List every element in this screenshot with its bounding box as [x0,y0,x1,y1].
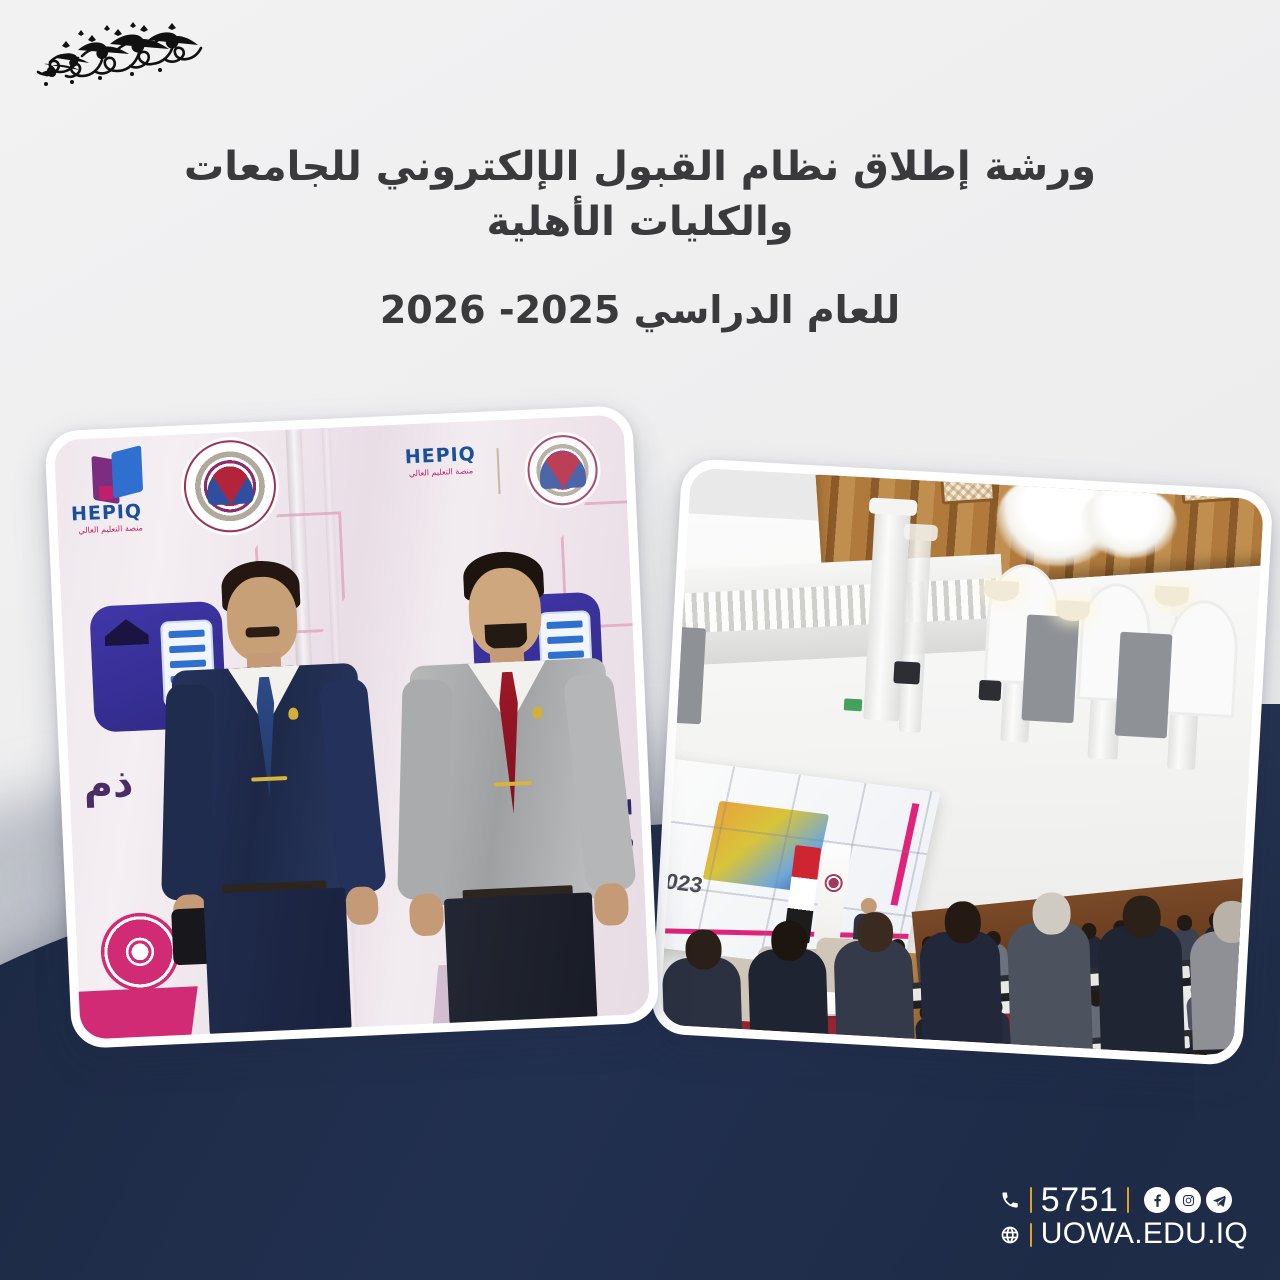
hepiq-wordmark-right: HEPIQ [404,443,476,468]
person-grey-right-hand [593,883,629,926]
headline-line-1: ورشة إطلاق نظام القبول الإلكتروني للجامع… [110,140,1170,250]
footer-divider-3 [1030,1223,1032,1247]
footer-social-links [1144,1187,1232,1213]
phone-icon [999,1189,1021,1211]
globe-icon [999,1224,1021,1246]
hall-window-3 [663,626,706,724]
person-navy-lapel-pin [288,707,299,719]
ceiling-panel-1 [939,467,996,504]
hall-speaker-box-1 [893,661,920,684]
person-navy-trousers [203,887,351,1035]
balcony-balusters [672,578,1004,634]
person-navy-moustache [245,626,279,638]
hepiq-logo-left: HEPIQ منصة التعليم العالي [68,448,143,535]
person-navy-right-hand [345,886,379,925]
footer-website-row[interactable]: UOWA.EDU.IQ [999,1219,1248,1250]
footer-divider-2 [1127,1187,1129,1213]
footer-divider-1 [1030,1187,1032,1213]
hall-balcony [671,554,1005,666]
hall-speaker-box-2 [978,680,1001,701]
hepiq-cube-icon [91,448,141,502]
person-grey-lapel-pin [532,706,543,718]
person-grey-left-hand [409,893,445,936]
footer-contact-block: 5751 UOWA.EDU.IQ [999,1183,1248,1250]
telegram-icon[interactable] [1206,1187,1232,1213]
footer-website-url: UOWA.EDU.IQ [1041,1219,1248,1250]
person-grey-left-arm [397,679,452,900]
person-navy-suit [151,556,387,1035]
photo-two-officials-at-hepiq-banner: HEPIQ منصة التعليم العالي HEPIQ منصة الت… [44,405,659,1049]
person-navy-head [225,575,299,662]
person-grey-trousers [443,892,597,1025]
hall-window-1 [1021,614,1079,723]
university-calligraphy-logo [26,20,216,92]
hall-window-2 [1115,632,1173,739]
conference-hall-scene: 2023 [660,467,1264,1056]
facebook-icon[interactable] [1144,1187,1170,1213]
footer-phone-row[interactable]: 5751 [999,1183,1248,1218]
photo-conference-hall-audience: 2023 [650,458,1273,1066]
person-grey-suit [389,545,635,1025]
person-navy-left-arm [161,684,214,901]
poster-canvas: ورشة إطلاق نظام القبول الإلكتروني للجامع… [0,0,1280,1280]
hall-exit-sign [844,698,863,711]
banner-watermark-text: ذم [82,753,135,815]
hepiq-wordmark-left: HEPIQ [71,500,143,525]
ceiling-panel-3 [1180,467,1235,504]
headline-line-2: للعام الدراسي 2025- 2026 [110,284,1170,337]
hepiq-logo-right: HEPIQ منصة التعليم العالي [404,443,476,478]
audience-front-row [660,898,1264,1057]
poster-headline: ورشة إطلاق نظام القبول الإلكتروني للجامع… [0,140,1280,338]
instagram-icon[interactable] [1175,1187,1201,1213]
footer-phone-number: 5751 [1041,1183,1119,1218]
